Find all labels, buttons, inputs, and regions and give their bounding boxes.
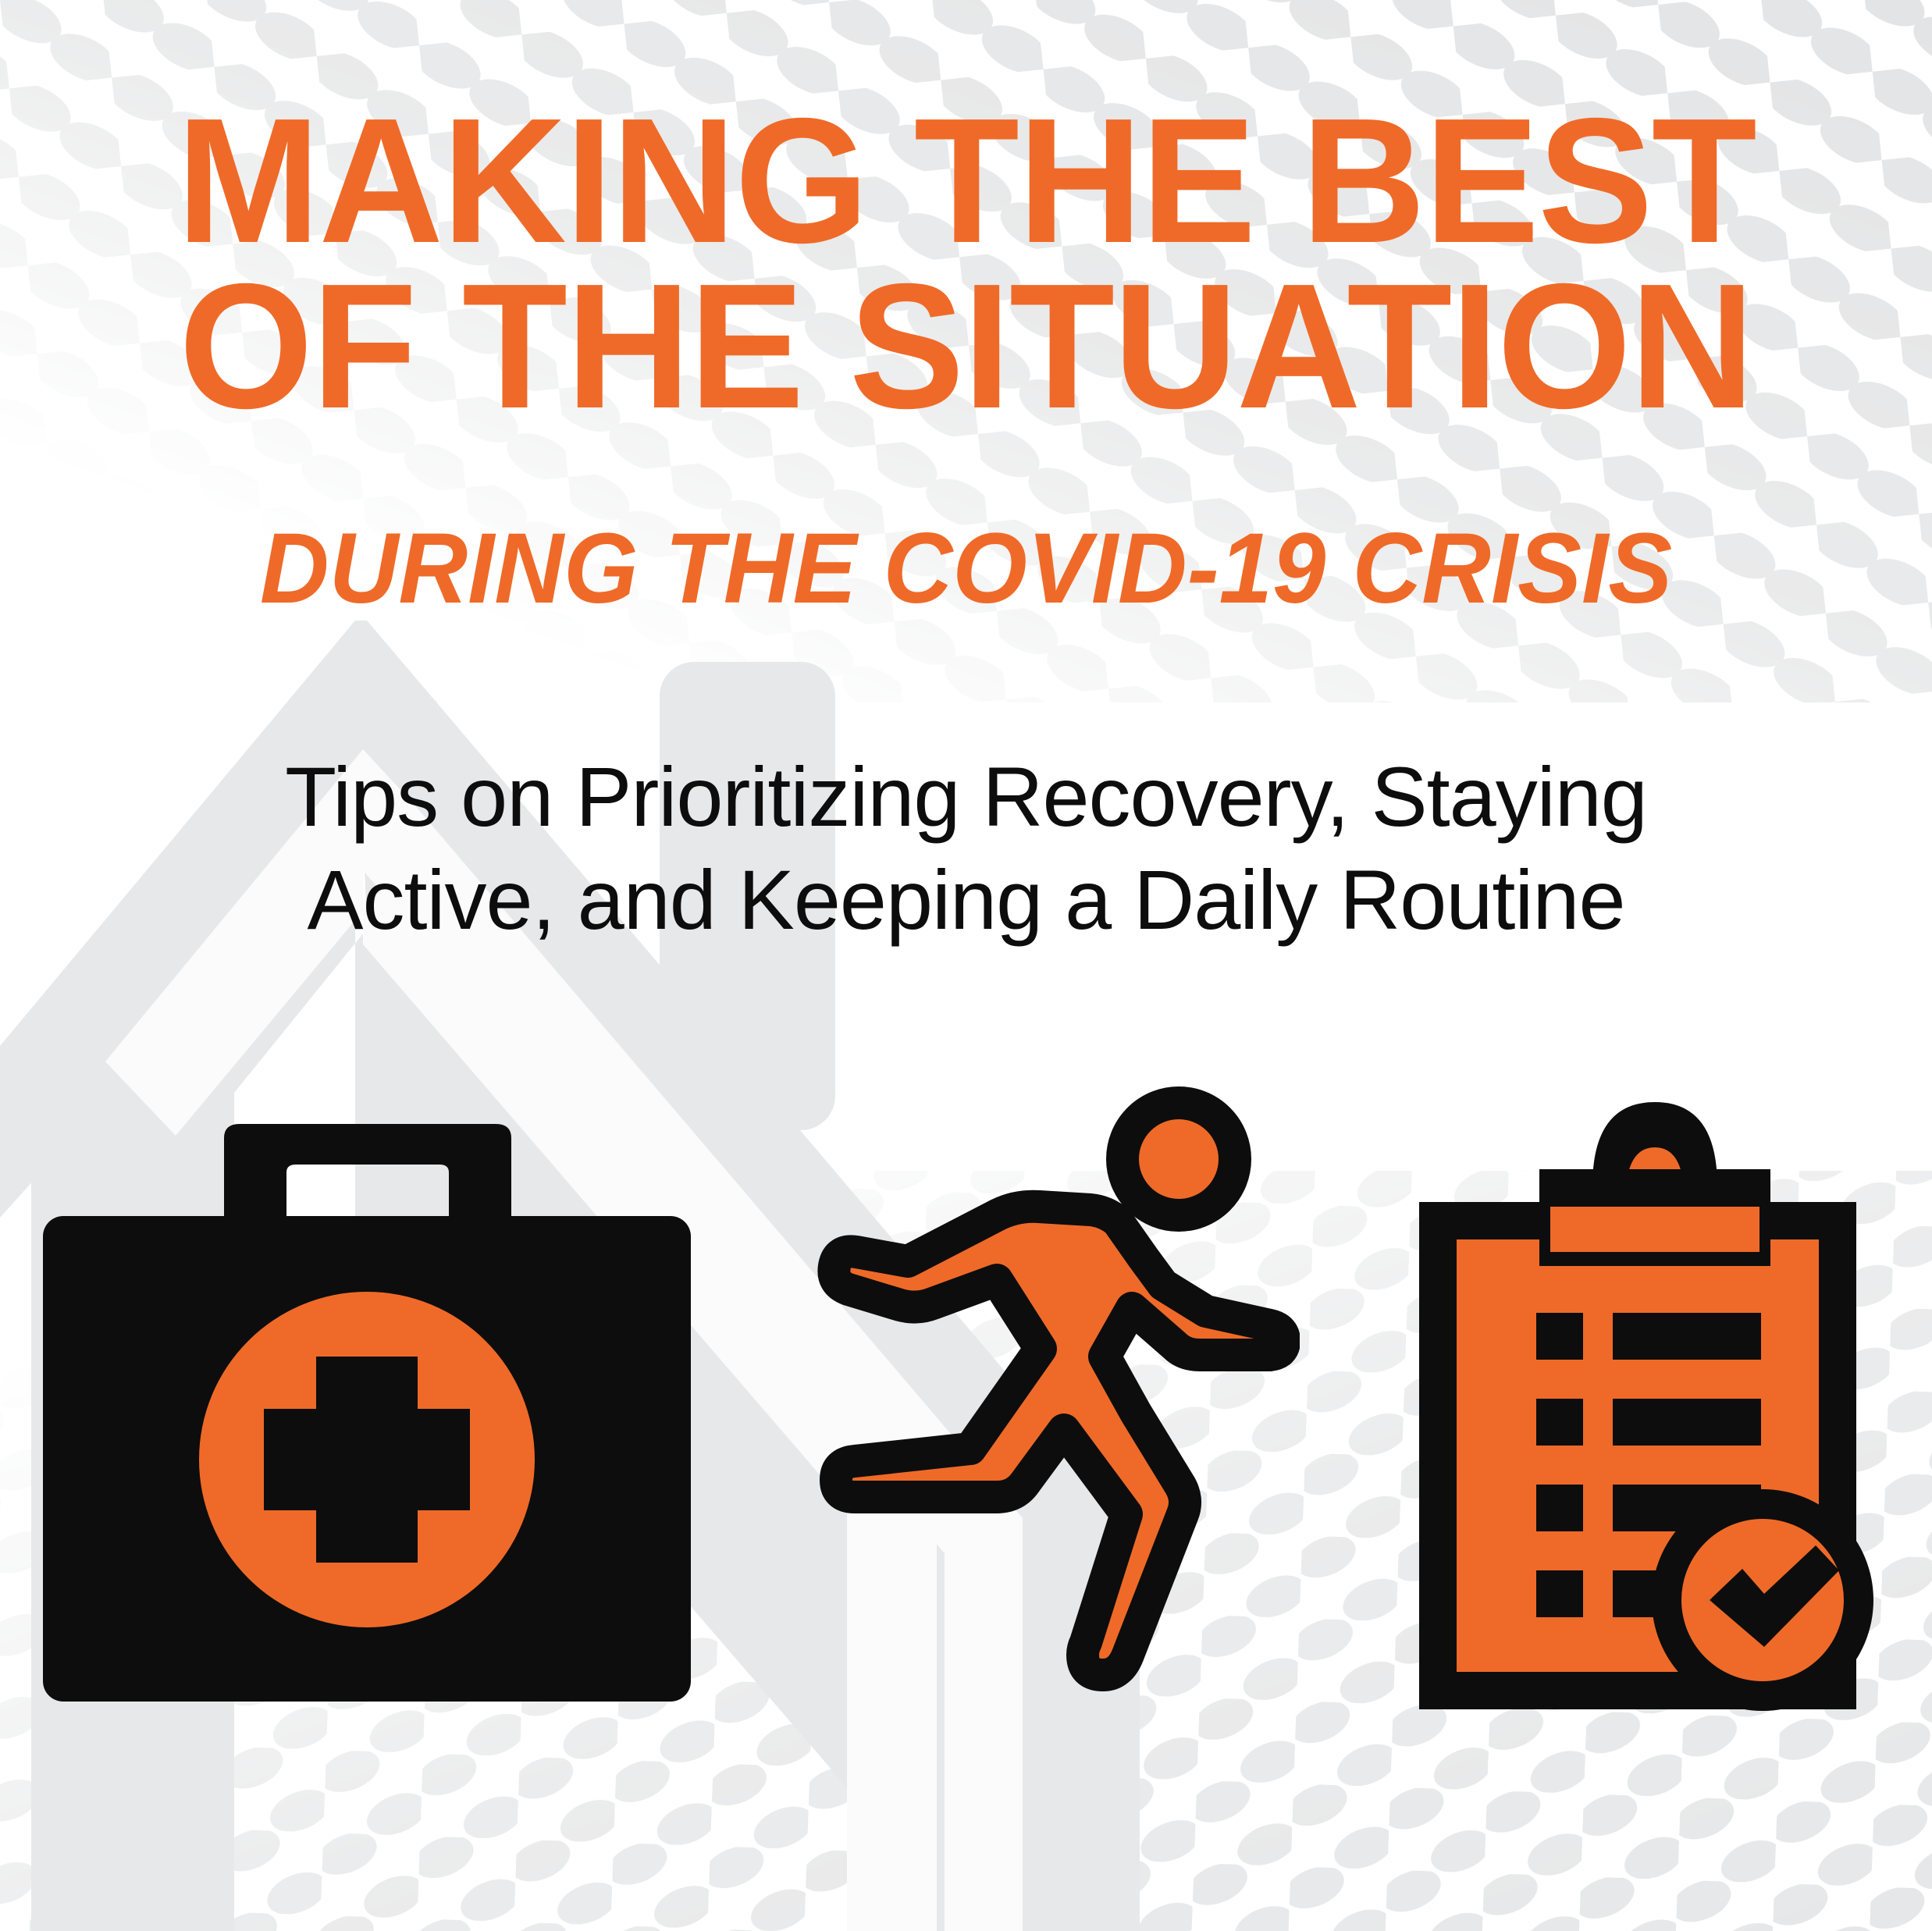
subtitle: DURING THE COVID-19 CRISIS: [39, 519, 1894, 619]
running-person-icon: [738, 1077, 1300, 1748]
description-line-1: Tips on Prioritizing Recovery, Staying: [0, 745, 1932, 848]
checklist-clipboard-icon: [1397, 1085, 1881, 1756]
description-block: Tips on Prioritizing Recovery, Staying A…: [0, 745, 1932, 951]
first-aid-kit-icon: [43, 1124, 691, 1702]
headline-line-2: OF THE SITUATION: [29, 265, 1903, 429]
description-line-2: Active, and Keeping a Daily Routine: [0, 848, 1932, 951]
headline-line-1: MAKING THE BEST: [29, 100, 1903, 264]
icon-row: [0, 1077, 1932, 1780]
poster-canvas: MAKING THE BEST OF THE SITUATION DURING …: [0, 0, 1932, 1931]
